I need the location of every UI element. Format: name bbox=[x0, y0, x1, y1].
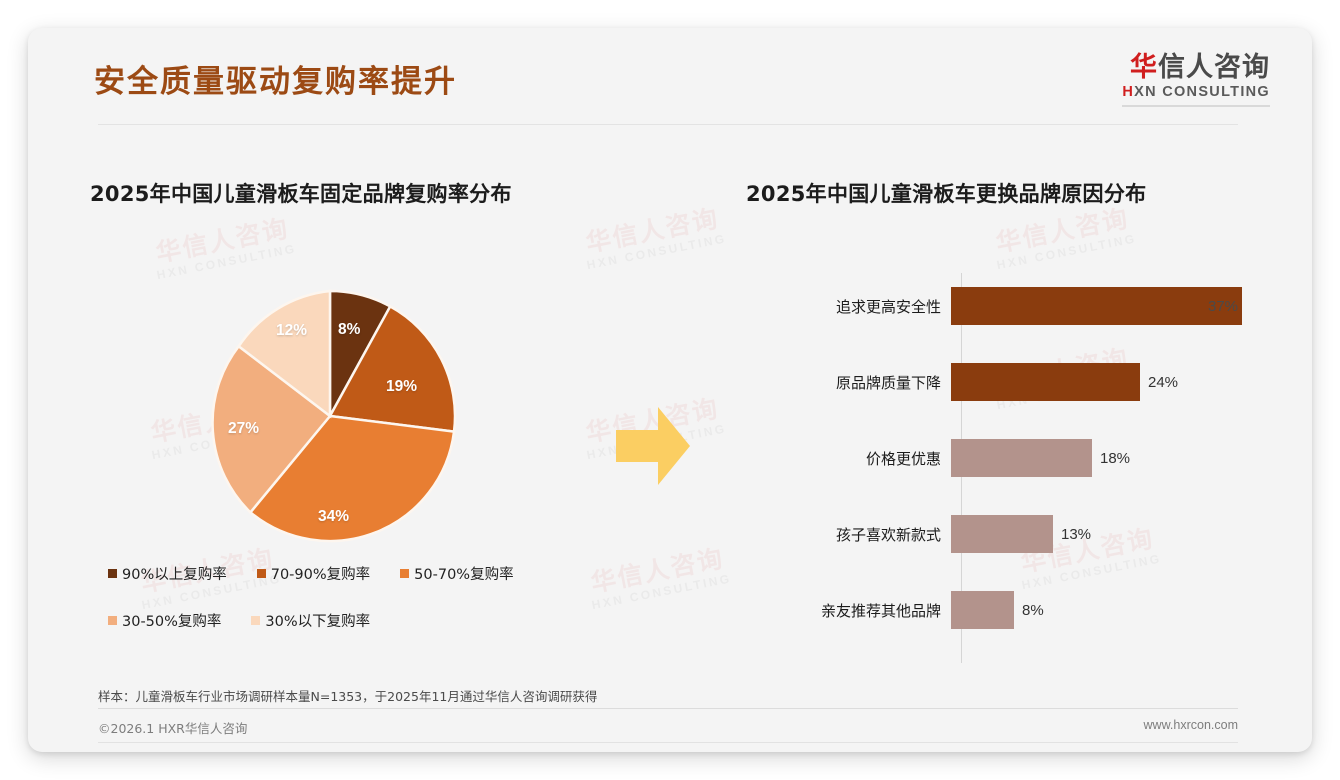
sample-footnote: 样本：儿童滑板车行业市场调研样本量N=1353，于2025年11月通过华信人咨询… bbox=[98, 686, 597, 705]
legend-item-30-50[interactable]: 30-50%复购率 bbox=[108, 610, 221, 631]
logo-hua-character: 华 bbox=[1130, 52, 1158, 83]
legend-label-50-70: 50-70%复购率 bbox=[414, 563, 513, 584]
right-arrow-icon bbox=[614, 404, 692, 488]
pie-legend: 90%以上复购率 70-90%复购率 50-70%复购率 30-50%复购率 bbox=[108, 563, 638, 657]
legend-swatch-icon bbox=[400, 569, 409, 578]
bar-fill-safety[interactable] bbox=[951, 287, 1242, 325]
logo-english: HXN CONSULTING bbox=[1122, 84, 1270, 100]
bar-category-price: 价格更优惠 bbox=[746, 448, 951, 469]
bar-value-quality: 24% bbox=[1148, 374, 1178, 391]
footer-divider bbox=[98, 742, 1238, 743]
legend-swatch-icon bbox=[108, 569, 117, 578]
pie-chart: 8% 19% 34% 27% 12% bbox=[200, 286, 460, 546]
bar-track: 37% bbox=[951, 287, 1286, 325]
bar-row: 原品牌质量下降 24% bbox=[746, 363, 1286, 401]
pie-chart-panel: 2025年中国儿童滑板车固定品牌复购率分布 8% 19% 34% 27% bbox=[90, 178, 650, 678]
bar-fill-quality[interactable] bbox=[951, 363, 1140, 401]
bar-value-safety: 37% bbox=[1208, 298, 1238, 315]
legend-item-30-below[interactable]: 30%以下复购率 bbox=[251, 610, 370, 631]
bar-category-safety: 追求更高安全性 bbox=[746, 296, 951, 317]
bar-track: 18% bbox=[951, 439, 1286, 477]
pie-label-30-50: 27% bbox=[228, 420, 259, 438]
pie-label-70-90: 19% bbox=[386, 378, 417, 396]
bar-category-new-style: 孩子喜欢新款式 bbox=[746, 524, 951, 545]
bar-fill-new-style[interactable] bbox=[951, 515, 1053, 553]
logo-h-character: H bbox=[1122, 84, 1134, 100]
legend-swatch-icon bbox=[257, 569, 266, 578]
footnote-divider bbox=[98, 708, 1238, 709]
logo-english-rest: XN CONSULTING bbox=[1134, 84, 1270, 100]
bar-row: 亲友推荐其他品牌 8% bbox=[746, 591, 1286, 629]
legend-swatch-icon bbox=[251, 616, 260, 625]
legend-swatch-icon bbox=[108, 616, 117, 625]
logo-underline bbox=[1122, 105, 1270, 107]
bar-value-price: 18% bbox=[1100, 450, 1130, 467]
pie-label-30-below: 12% bbox=[276, 322, 307, 340]
header-divider bbox=[98, 124, 1238, 125]
website-url[interactable]: www.hxrcon.com bbox=[1144, 718, 1238, 732]
bar-chart-panel: 2025年中国儿童滑板车更换品牌原因分布 追求更高安全性 37% 原品牌质量下降… bbox=[746, 178, 1286, 678]
pie-legend-row: 90%以上复购率 70-90%复购率 50-70%复购率 bbox=[108, 563, 638, 584]
bar-chart-title: 2025年中国儿童滑板车更换品牌原因分布 bbox=[746, 178, 1286, 208]
bar-track: 13% bbox=[951, 515, 1286, 553]
legend-label-30-50: 30-50%复购率 bbox=[122, 610, 221, 631]
bar-fill-recommendation[interactable] bbox=[951, 591, 1014, 629]
page-title: 安全质量驱动复购率提升 bbox=[94, 56, 457, 101]
bar-category-quality: 原品牌质量下降 bbox=[746, 372, 951, 393]
pie-legend-row: 30-50%复购率 30%以下复购率 bbox=[108, 610, 638, 631]
bar-row: 追求更高安全性 37% bbox=[746, 287, 1286, 325]
bar-row: 价格更优惠 18% bbox=[746, 439, 1286, 477]
legend-item-90-plus[interactable]: 90%以上复购率 bbox=[108, 563, 227, 584]
bar-value-recommendation: 8% bbox=[1022, 602, 1044, 619]
bar-chart: 追求更高安全性 37% 原品牌质量下降 24% 价格更优惠 18% bbox=[746, 273, 1286, 663]
slide-header: 安全质量驱动复购率提升 华信人咨询 HXN CONSULTING bbox=[28, 28, 1312, 128]
logo-chinese-rest: 信人咨询 bbox=[1158, 52, 1270, 83]
company-logo: 华信人咨询 HXN CONSULTING bbox=[1122, 54, 1270, 107]
copyright-text: ©2026.1 HXR华信人咨询 bbox=[98, 718, 247, 737]
pie-svg bbox=[200, 286, 460, 546]
legend-item-50-70[interactable]: 50-70%复购率 bbox=[400, 563, 513, 584]
logo-chinese: 华信人咨询 bbox=[1122, 54, 1270, 82]
slide: 华信人咨询 HXN CONSULTING 华信人咨询 HXN CONSULTIN… bbox=[28, 28, 1312, 752]
legend-label-70-90: 70-90%复购率 bbox=[271, 563, 370, 584]
legend-item-70-90[interactable]: 70-90%复购率 bbox=[257, 563, 370, 584]
bar-row: 孩子喜欢新款式 13% bbox=[746, 515, 1286, 553]
bar-category-recommendation: 亲友推荐其他品牌 bbox=[746, 600, 951, 621]
legend-label-90-plus: 90%以上复购率 bbox=[122, 563, 227, 584]
pie-label-90-plus: 8% bbox=[338, 321, 360, 339]
bar-track: 8% bbox=[951, 591, 1286, 629]
bar-fill-price[interactable] bbox=[951, 439, 1092, 477]
flow-arrow bbox=[614, 404, 692, 493]
pie-label-50-70: 34% bbox=[318, 508, 349, 526]
bar-value-new-style: 13% bbox=[1061, 526, 1091, 543]
bar-track: 24% bbox=[951, 363, 1286, 401]
slide-footer: ©2026.1 HXR华信人咨询 www.hxrcon.com bbox=[28, 718, 1312, 752]
legend-label-30-below: 30%以下复购率 bbox=[265, 610, 370, 631]
pie-chart-title: 2025年中国儿童滑板车固定品牌复购率分布 bbox=[90, 178, 650, 208]
